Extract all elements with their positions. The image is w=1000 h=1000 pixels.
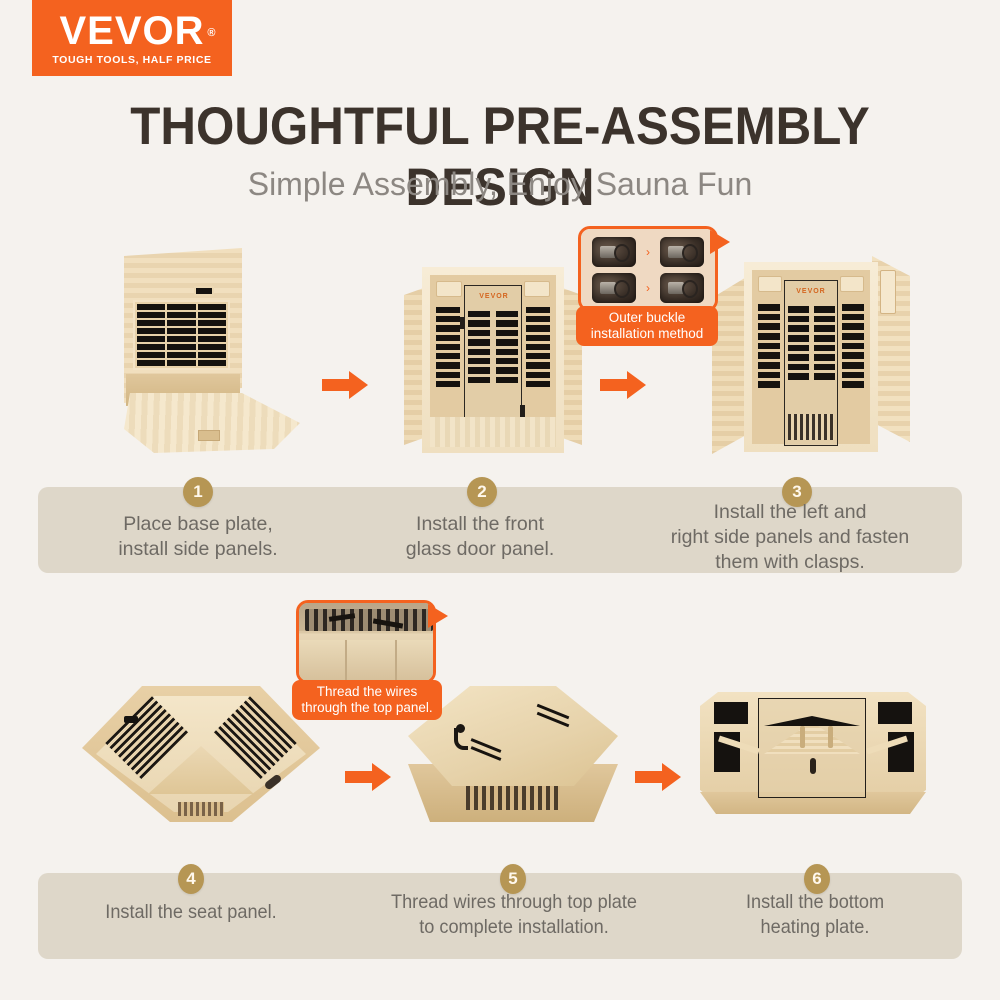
caption-line: Install the front [350, 512, 610, 537]
caption-line: right side panels and fasten [640, 525, 940, 550]
step-2-image: VEVOR [398, 255, 588, 455]
mini-arrow-icon: › [646, 245, 650, 259]
step-1-image [100, 248, 300, 453]
caption-line: Thread wires through top plate [378, 890, 650, 915]
vevor-logo: VEVOR® TOUGH TOOLS, HALF PRICE [32, 0, 232, 76]
door-brand-mark: VEVOR [788, 288, 834, 297]
step-caption-6: Install the bottom heating plate. [699, 890, 932, 940]
caption-line: heating plate. [699, 915, 932, 940]
buckle-photo-4 [660, 273, 704, 303]
step-badge-2: 2 [467, 477, 497, 507]
callout-label-line-2: installation method [584, 326, 710, 342]
callout-tail [428, 604, 448, 628]
caption-line: install side panels. [58, 537, 338, 562]
callout-outer-buckle: › › Outer buckle installation method [578, 226, 724, 346]
callout-label-line-2: through the top panel. [300, 700, 434, 716]
callout-tail [710, 230, 730, 254]
page-subtitle: Simple Assembly, Enjoy Sauna Fun [0, 166, 1000, 203]
callout-label-line-1: Thread the wires [300, 684, 434, 700]
caption-line: to complete installation. [378, 915, 650, 940]
arrow-step4-to-step5 [345, 762, 391, 792]
step-3-image: VEVOR [712, 248, 910, 460]
caption-line: Install the bottom [699, 890, 932, 915]
step-4-image [82, 686, 320, 832]
step-caption-5: Thread wires through top plate to comple… [378, 890, 650, 940]
step-6-image [700, 692, 926, 820]
brand-wordmark: VEVOR® [59, 11, 204, 51]
callout-thread-wires: Thread the wires through the top panel. [296, 600, 446, 714]
brand-tagline: TOUGH TOOLS, HALF PRICE [52, 54, 211, 66]
caption-line: Install the left and [640, 500, 940, 525]
callout-label: Outer buckle installation method [576, 306, 718, 346]
step-badge-4: 4 [178, 864, 204, 894]
registered-mark: ® [207, 13, 216, 53]
step-caption-3: Install the left and right side panels a… [640, 500, 940, 575]
caption-line: glass door panel. [350, 537, 610, 562]
buckle-photo-1 [592, 237, 636, 267]
callout-label-line-1: Outer buckle [584, 310, 710, 326]
callout-label: Thread the wires through the top panel. [292, 680, 442, 720]
step-caption-2: Install the front glass door panel. [350, 512, 610, 562]
arrow-step5-to-step6 [635, 762, 681, 792]
step-badge-1: 1 [183, 477, 213, 507]
arrow-step1-to-step2 [322, 370, 368, 400]
brand-name: VEVOR [59, 9, 204, 53]
buckle-photo-3 [592, 273, 636, 303]
caption-line: Place base plate, [58, 512, 338, 537]
arrow-step2-to-step3 [600, 370, 646, 400]
wire-photo-frame [296, 600, 436, 684]
buckle-photo-2 [660, 237, 704, 267]
buckle-photo-frame: › › [578, 226, 718, 312]
caption-line: Install the seat panel. [69, 900, 313, 925]
door-brand-mark: VEVOR [470, 293, 518, 302]
step-caption-1: Place base plate, install side panels. [58, 512, 338, 562]
caption-line: them with clasps. [640, 550, 940, 575]
step-caption-4: Install the seat panel. [69, 900, 313, 925]
mini-arrow-icon: › [646, 281, 650, 295]
